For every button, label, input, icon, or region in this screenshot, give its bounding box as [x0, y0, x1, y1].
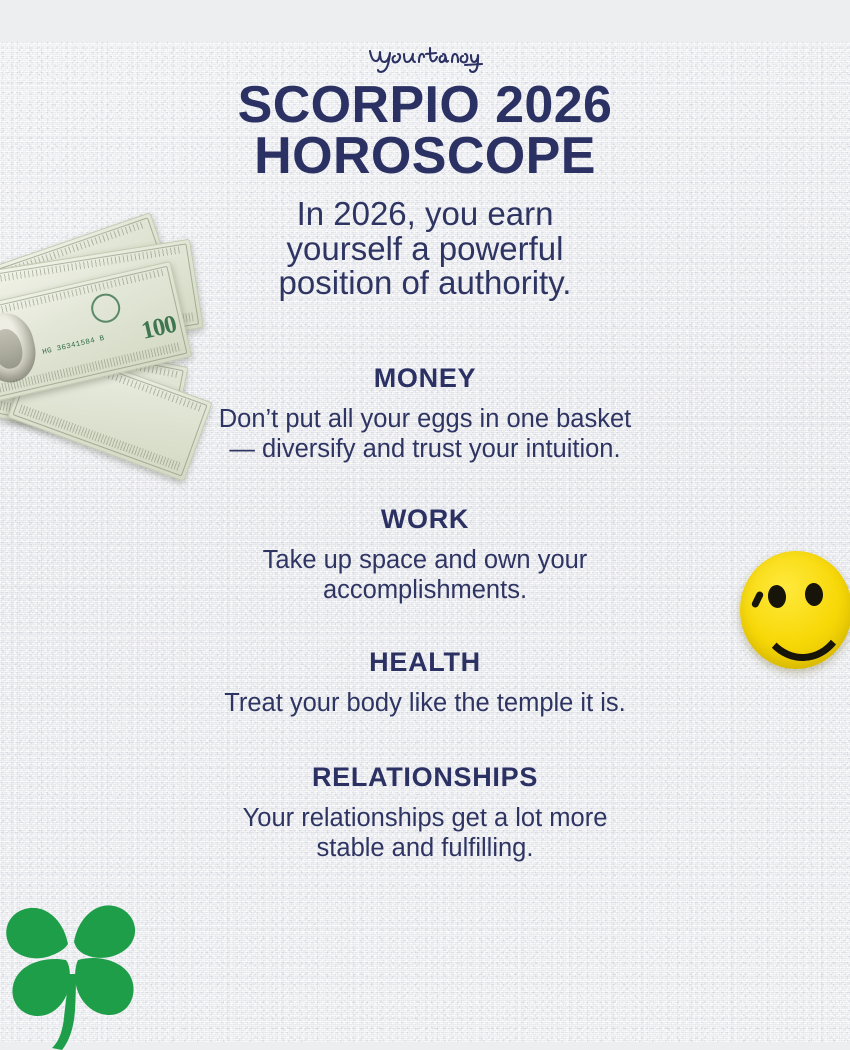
- section-relationships: RELATIONSHIPS Your relationships get a l…: [0, 764, 850, 863]
- page-title-line-1: SCORPIO 2026: [238, 76, 613, 134]
- four-leaf-clover-icon: [0, 882, 155, 1050]
- section-body-relationships: Your relationships get a lot more stable…: [225, 803, 625, 863]
- section-title-health: HEALTH: [0, 649, 850, 676]
- page-subtitle: In 2026, you earn yourself a powerful po…: [240, 197, 610, 301]
- section-health: HEALTH Treat your body like the temple i…: [0, 649, 850, 718]
- section-body-work: Take up space and own your accomplishmen…: [216, 545, 634, 605]
- yourtango-script-logo: YourTango: [0, 42, 850, 76]
- section-body-health: Treat your body like the temple it is.: [216, 688, 634, 718]
- section-title-work: WORK: [0, 506, 850, 533]
- page-title-line-2: HOROSCOPE: [254, 127, 596, 185]
- poster-content: YourTango SCORPIO 2026 HOROSCOPE In 2026…: [0, 42, 850, 863]
- section-work: WORK Take up space and own your accompli…: [0, 506, 850, 605]
- section-body-money: Don’t put all your eggs in one basket — …: [216, 404, 634, 464]
- section-title-relationships: RELATIONSHIPS: [0, 764, 850, 791]
- section-title-money: MONEY: [0, 365, 850, 392]
- page-title: SCORPIO 2026 HOROSCOPE: [0, 80, 850, 183]
- section-money: MONEY Don’t put all your eggs in one bas…: [0, 365, 850, 464]
